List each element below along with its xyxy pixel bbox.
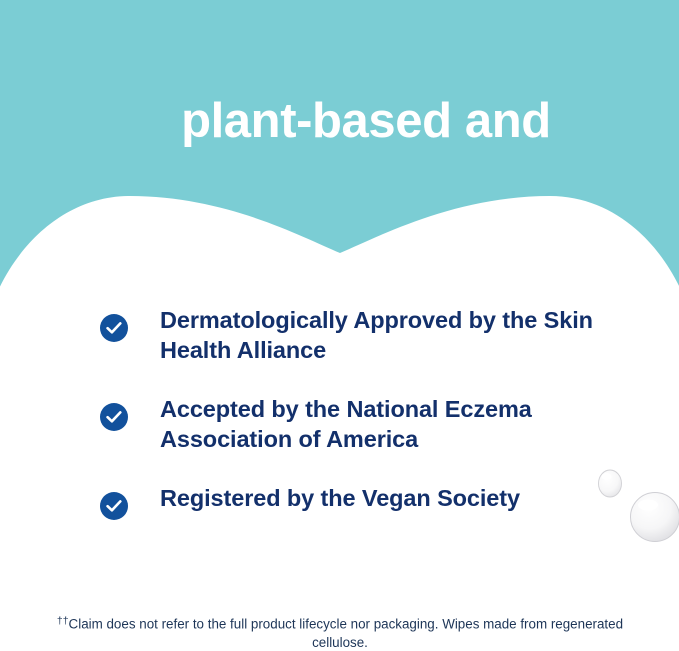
claim-text: Accepted by the National Eczema Associat… xyxy=(160,394,600,454)
promo-banner: plant-based and plastic free++ wipes Der… xyxy=(0,0,679,651)
headline-superscript: ++ xyxy=(404,278,435,306)
list-item: Registered by the Vegan Society xyxy=(100,483,620,520)
headline-line-1: plant-based and xyxy=(181,94,551,148)
claim-text: Dermatologically Approved by the Skin He… xyxy=(160,305,600,365)
check-circle-icon xyxy=(100,314,128,342)
check-circle-icon xyxy=(100,403,128,431)
list-item: Dermatologically Approved by the Skin He… xyxy=(100,305,620,365)
check-circle-icon xyxy=(100,492,128,520)
list-item: Accepted by the National Eczema Associat… xyxy=(100,394,620,454)
claims-list: Dermatologically Approved by the Skin He… xyxy=(100,305,620,520)
water-droplet-icon xyxy=(629,491,679,543)
check-mark-icon xyxy=(106,321,122,335)
footnote-superscript: †† xyxy=(57,616,69,627)
footnote-text: Claim does not refer to the full product… xyxy=(69,616,624,650)
water-droplet-icon xyxy=(597,467,623,498)
claim-text: Registered by the Vegan Society xyxy=(160,483,520,513)
footnote: ††Claim does not refer to the full produ… xyxy=(55,612,625,651)
check-mark-icon xyxy=(106,499,122,513)
check-mark-icon xyxy=(106,410,122,424)
